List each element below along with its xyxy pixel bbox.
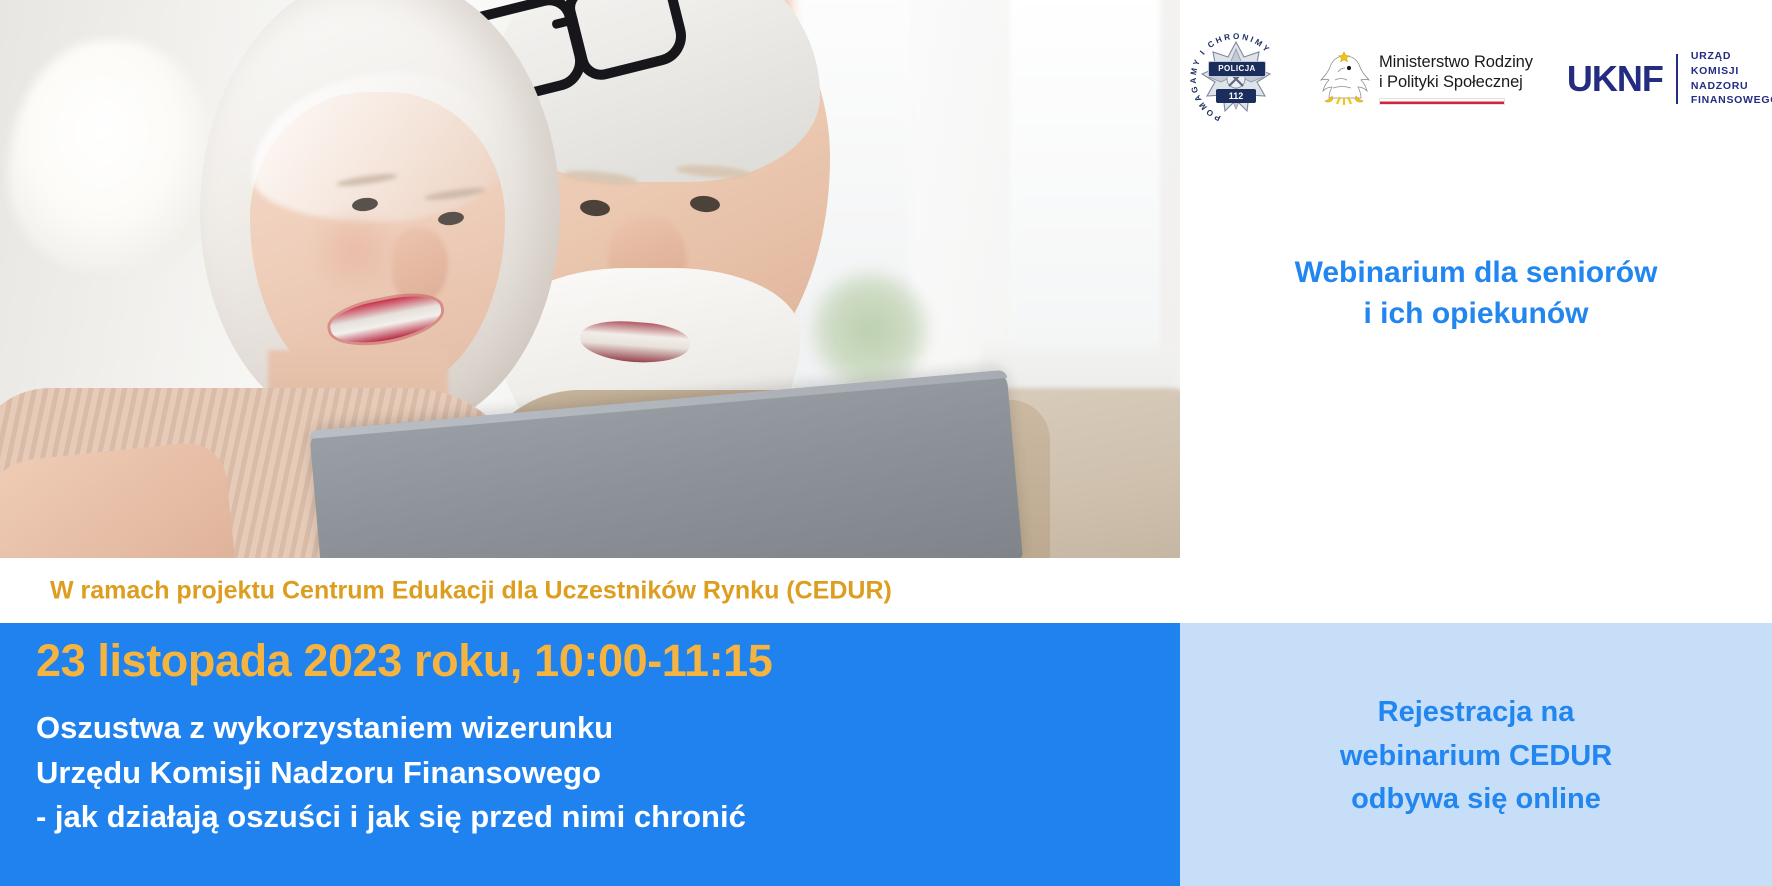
- uknf-divider: [1676, 54, 1678, 104]
- event-details-panel: 23 listopada 2023 roku, 10:00-11:15 Oszu…: [0, 623, 1180, 886]
- webinar-title-line-2: i ich opiekunów: [1198, 293, 1754, 334]
- registration-line-2: webinarium CEDUR: [1340, 735, 1612, 779]
- hero-photo-elderly-couple: [0, 0, 1180, 558]
- webinar-poster: POMAGAMY I CHRONIMY POL: [0, 0, 1772, 886]
- registration-text: Rejestracja na webinarium CEDUR odbywa s…: [1340, 687, 1612, 822]
- uknf-wordmark: UKNF: [1567, 61, 1663, 97]
- event-subject-line-1: Oszustwa z wykorzystaniem wizerunku: [36, 706, 1156, 751]
- event-subject-line-2: Urzędu Komisji Nadzoru Finansowego: [36, 751, 1156, 796]
- ministry-line-2: i Polityki Społecznej: [1379, 73, 1533, 92]
- event-subject: Oszustwa z wykorzystaniem wizerunku Urzę…: [36, 706, 1156, 840]
- police-plate-label: POLICJA: [1208, 61, 1266, 77]
- police-logo: POMAGAMY I CHRONIMY POL: [1188, 31, 1284, 127]
- uknf-sub-line-2: KOMISJI: [1691, 65, 1772, 79]
- logo-bar: POMAGAMY I CHRONIMY POL: [1180, 0, 1772, 558]
- ministry-text: Ministerstwo Rodziny i Polityki Społeczn…: [1379, 53, 1533, 105]
- ministry-logo: Ministerstwo Rodziny i Polityki Społeczn…: [1318, 50, 1533, 108]
- logo-row: POMAGAMY I CHRONIMY POL: [1180, 26, 1772, 132]
- polish-eagle-icon: [1318, 50, 1370, 108]
- webinar-title: Webinarium dla seniorów i ich opiekunów: [1180, 252, 1772, 335]
- registration-line-3: odbywa się online: [1340, 778, 1612, 822]
- police-star-icon: [1201, 41, 1271, 117]
- event-date-time: 23 listopada 2023 roku, 10:00-11:15: [36, 635, 772, 687]
- registration-panel: Rejestracja na webinarium CEDUR odbywa s…: [1180, 623, 1772, 886]
- uknf-sub-line-3: NADZORU: [1691, 80, 1772, 94]
- registration-line-1: Rejestracja na: [1340, 691, 1612, 735]
- uknf-sub-line-1: URZĄD: [1691, 50, 1772, 64]
- ministry-line-1: Ministerstwo Rodziny: [1379, 53, 1533, 72]
- webinar-title-line-1: Webinarium dla seniorów: [1198, 252, 1754, 293]
- cedur-strip: W ramach projektu Centrum Edukacji dla U…: [0, 558, 1772, 623]
- cedur-project-text: W ramach projektu Centrum Edukacji dla U…: [50, 576, 892, 605]
- uknf-subtext: URZĄD KOMISJI NADZORU FINANSOWEGO: [1691, 50, 1772, 108]
- polish-flag-bar-icon: [1379, 98, 1505, 105]
- police-emergency-number: 112: [1216, 89, 1256, 103]
- event-subject-line-3: - jak działają oszuści i jak się przed n…: [36, 795, 1156, 840]
- uknf-sub-line-4: FINANSOWEGO: [1691, 94, 1772, 108]
- uknf-logo: UKNF URZĄD KOMISJI NADZORU FINANSOWEGO: [1567, 50, 1772, 108]
- plant: [810, 270, 930, 390]
